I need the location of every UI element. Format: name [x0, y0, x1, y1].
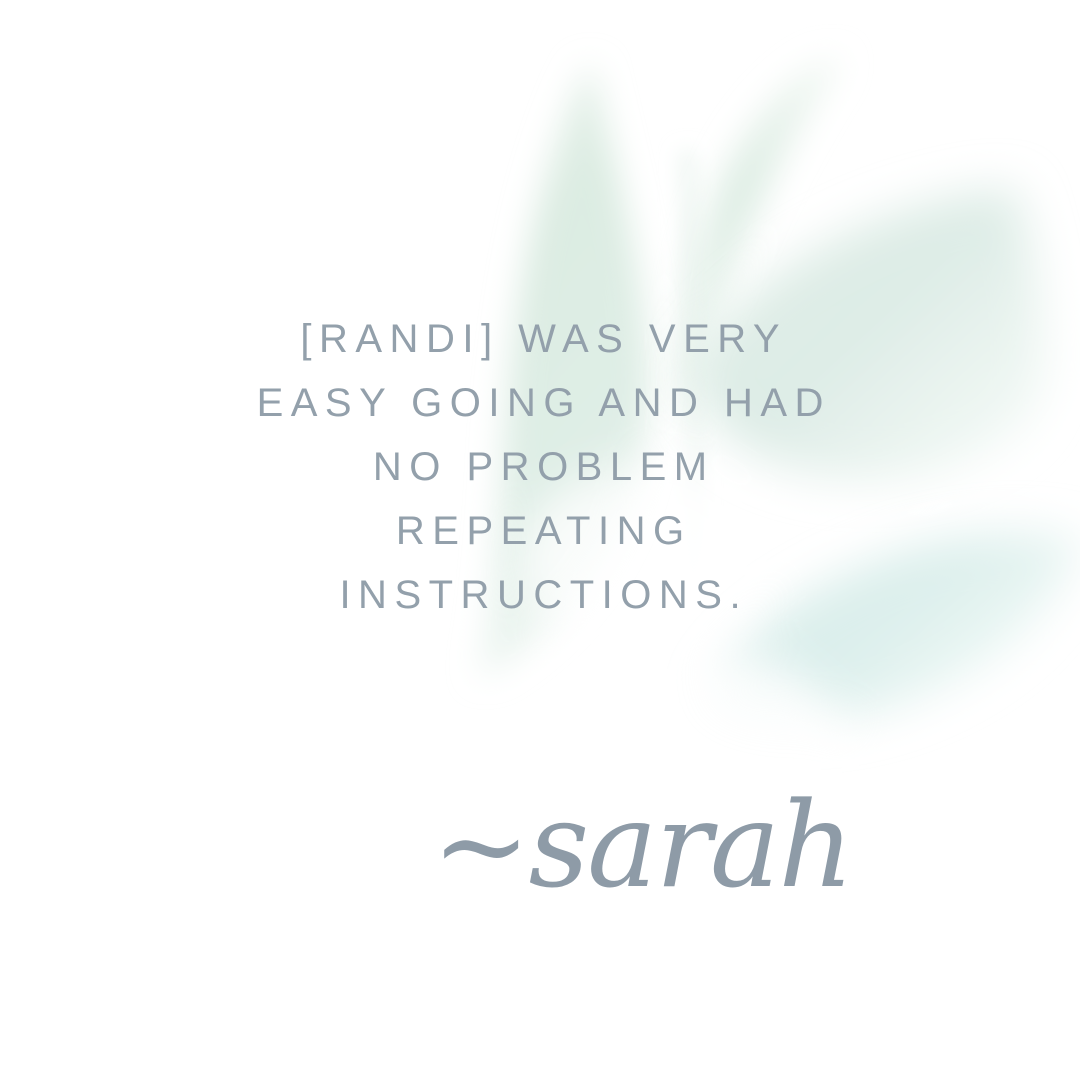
testimonial-card: [RANDI] WAS VERY EASY GOING AND HAD NO P…: [0, 0, 1080, 1080]
quote-line-5: INSTRUCTIONS.: [0, 563, 1080, 627]
quote-line-3: NO PROBLEM: [0, 435, 1080, 499]
signature-text: ~sarah: [432, 786, 853, 904]
quote-line-2: EASY GOING AND HAD: [0, 371, 1080, 435]
quote-line-1: [RANDI] WAS VERY: [0, 307, 1080, 371]
signature-area: ~sarah: [0, 786, 1080, 904]
testimonial-quote: [RANDI] WAS VERY EASY GOING AND HAD NO P…: [0, 307, 1080, 627]
quote-line-4: REPEATING: [0, 499, 1080, 563]
